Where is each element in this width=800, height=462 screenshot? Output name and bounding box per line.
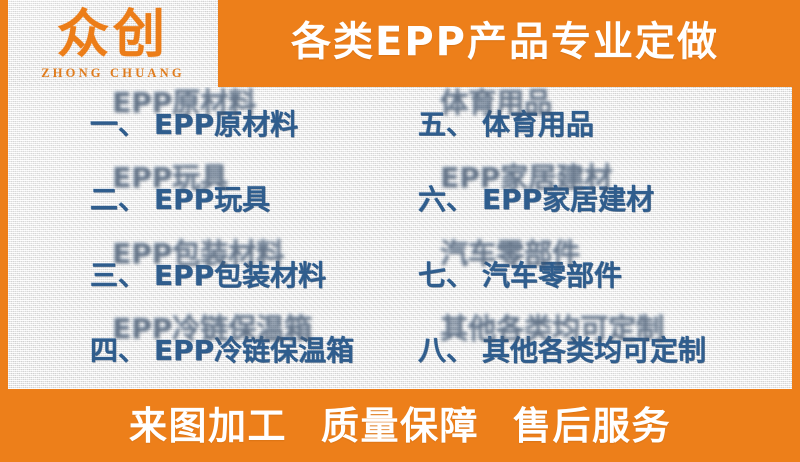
list-item[interactable]: EPP冷链保温箱 四、 EPP冷链保温箱 — [8, 337, 400, 365]
list-item-number: 四、 — [90, 337, 146, 365]
list-item-label: 其他各类均可定制 — [482, 337, 706, 365]
list-item-label: EPP玩具 — [154, 186, 270, 214]
category-list-right: 汽车零部件 七、 汽车零部件 — [400, 262, 792, 290]
category-list-left: EPP冷链保温箱 四、 EPP冷链保温箱 — [8, 337, 400, 365]
frame-edge-left — [0, 0, 8, 462]
banner-headline: 各类EPP产品专业定做 — [218, 0, 792, 87]
footer-service-item: 来图加工 — [129, 407, 287, 445]
category-list-right: 体育用品 五、 体育用品 — [400, 111, 792, 139]
category-list-right: EPP家居建材 六、 EPP家居建材 — [400, 186, 792, 214]
footer-service-item: 售后服务 — [513, 407, 671, 445]
banner-footer: 来图加工 质量保障 售后服务 — [0, 389, 800, 462]
list-item-number: 八、 — [418, 337, 474, 365]
list-item-number: 一、 — [90, 111, 146, 139]
logo-chinese-wordmark: 众创 — [57, 9, 169, 61]
category-list-right: 其他各类均可定制 八、 其他各类均可定制 — [400, 337, 792, 365]
list-item-number: 二、 — [90, 186, 146, 214]
category-list-left: EPP原材料 一、 EPP原材料 — [8, 111, 400, 139]
product-category-panel: EPP原材料 一、 EPP原材料 体育用品 五、 体育用品 EPP玩具 二、 E… — [8, 87, 792, 389]
list-item-label: EPP家居建材 — [482, 186, 654, 214]
list-item[interactable]: EPP玩具 二、 EPP玩具 — [8, 186, 400, 214]
list-item-number: 六、 — [418, 186, 474, 214]
list-item[interactable]: 汽车零部件 七、 汽车零部件 — [400, 262, 792, 290]
promo-banner: 众创 ZHONG CHUANG 各类EPP产品专业定做 EPP原材料 一、 EP… — [0, 0, 800, 462]
list-item[interactable]: EPP包装材料 三、 EPP包装材料 — [8, 262, 400, 290]
list-item-label: EPP冷链保温箱 — [154, 337, 354, 365]
list-item-label: 汽车零部件 — [482, 262, 622, 290]
frame-edge-right — [792, 0, 800, 462]
category-list-left: EPP包装材料 三、 EPP包装材料 — [8, 262, 400, 290]
brand-logo: 众创 ZHONG CHUANG — [8, 0, 218, 87]
list-item[interactable]: 体育用品 五、 体育用品 — [400, 111, 792, 139]
list-item-label: EPP原材料 — [154, 111, 298, 139]
product-category-grid: EPP原材料 一、 EPP原材料 体育用品 五、 体育用品 EPP玩具 二、 E… — [8, 87, 792, 389]
list-item[interactable]: 其他各类均可定制 八、 其他各类均可定制 — [400, 337, 792, 365]
list-item-label: EPP包装材料 — [154, 262, 326, 290]
category-list-left: EPP玩具 二、 EPP玩具 — [8, 186, 400, 214]
logo-pinyin-wordmark: ZHONG CHUANG — [41, 66, 185, 81]
banner-header: 众创 ZHONG CHUANG 各类EPP产品专业定做 — [0, 0, 800, 87]
list-item-number: 五、 — [418, 111, 474, 139]
list-item-number: 三、 — [90, 262, 146, 290]
list-item-label: 体育用品 — [482, 111, 594, 139]
list-item[interactable]: EPP家居建材 六、 EPP家居建材 — [400, 186, 792, 214]
list-item-number: 七、 — [418, 262, 474, 290]
list-item[interactable]: EPP原材料 一、 EPP原材料 — [8, 111, 400, 139]
footer-service-item: 质量保障 — [321, 407, 479, 445]
